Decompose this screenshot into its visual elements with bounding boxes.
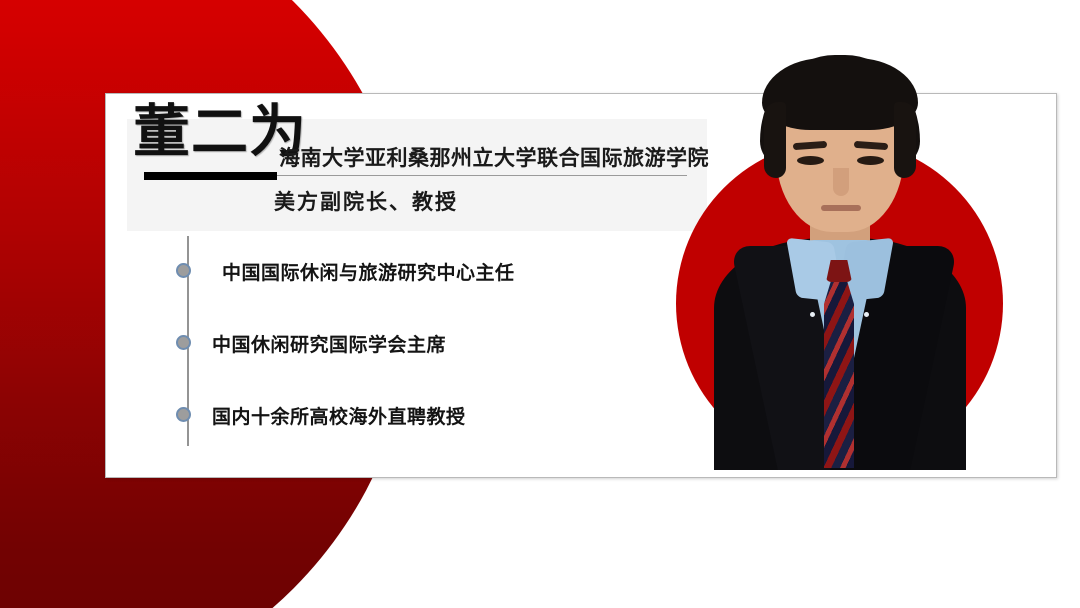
portrait [676, 50, 1006, 470]
credential-text: 中国国际休闲与旅游研究中心主任 [222, 258, 515, 285]
portrait-collar-button-right [864, 312, 869, 317]
portrait-mouth [821, 205, 861, 211]
credential-text: 国内十余所高校海外直聘教授 [212, 402, 466, 429]
affiliation-line-2: 美方副院长、教授 [274, 186, 458, 216]
credentials-timeline: 中国国际休闲与旅游研究中心主任 中国休闲研究国际学会主席 国内十余所高校海外直聘… [182, 236, 722, 448]
portrait-collar-button-left [810, 312, 815, 317]
portrait-eye-left [797, 156, 824, 165]
credential-text: 中国休闲研究国际学会主席 [212, 330, 446, 357]
portrait-sideburn-left [764, 102, 786, 178]
portrait-nose [833, 168, 849, 196]
name-underline-bar [144, 172, 277, 180]
slide-canvas: 董二为 海南大学亚利桑那州立大学联合国际旅游学院 美方副院长、教授 中国国际休闲… [0, 0, 1080, 608]
timeline-dot-icon [176, 335, 191, 350]
portrait-necktie [824, 268, 854, 468]
title-divider-rule [277, 175, 687, 176]
affiliation-line-1: 海南大学亚利桑那州立大学联合国际旅游学院 [279, 142, 709, 172]
portrait-photo [714, 50, 966, 470]
timeline-dot-icon [176, 263, 191, 278]
timeline-dot-icon [176, 407, 191, 422]
portrait-sideburn-right [894, 102, 916, 178]
portrait-eye-right [857, 156, 884, 165]
